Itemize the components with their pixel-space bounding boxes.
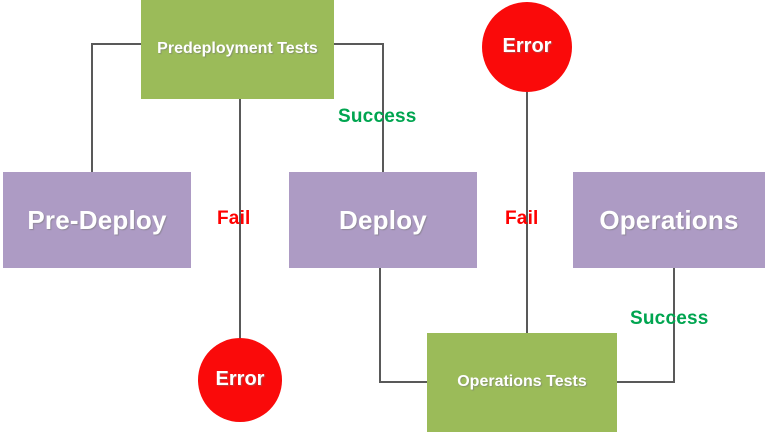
connector-deploy-to-operations-tests: [380, 268, 427, 382]
node-operations[interactable]: Operations: [573, 172, 765, 268]
node-label: Deploy: [339, 205, 427, 236]
node-error-top[interactable]: Error: [482, 2, 572, 92]
node-label: Predeployment Tests: [157, 40, 318, 59]
node-error-bottom[interactable]: Error: [198, 338, 282, 422]
node-label: Error: [216, 368, 265, 392]
edge-label-fail-deploy: Fail: [505, 208, 539, 230]
node-predeployment-tests[interactable]: Predeployment Tests: [141, 0, 334, 99]
node-label: Operations Tests: [457, 373, 587, 392]
node-deploy[interactable]: Deploy: [289, 172, 477, 268]
node-operations-tests[interactable]: Operations Tests: [427, 333, 617, 432]
diagram-canvas: Predeployment TestsPre-DeployDeployOpera…: [0, 0, 765, 432]
edge-label-success-deploy: Success: [338, 106, 417, 128]
edge-label-success-operations: Success: [630, 308, 709, 330]
connector-predeployment-to-pre-deploy: [92, 44, 141, 172]
node-label: Operations: [599, 205, 738, 236]
node-label: Pre-Deploy: [27, 205, 166, 236]
node-pre-deploy[interactable]: Pre-Deploy: [3, 172, 191, 268]
node-label: Error: [503, 35, 552, 59]
edge-label-fail-pre-deploy: Fail: [217, 208, 251, 230]
